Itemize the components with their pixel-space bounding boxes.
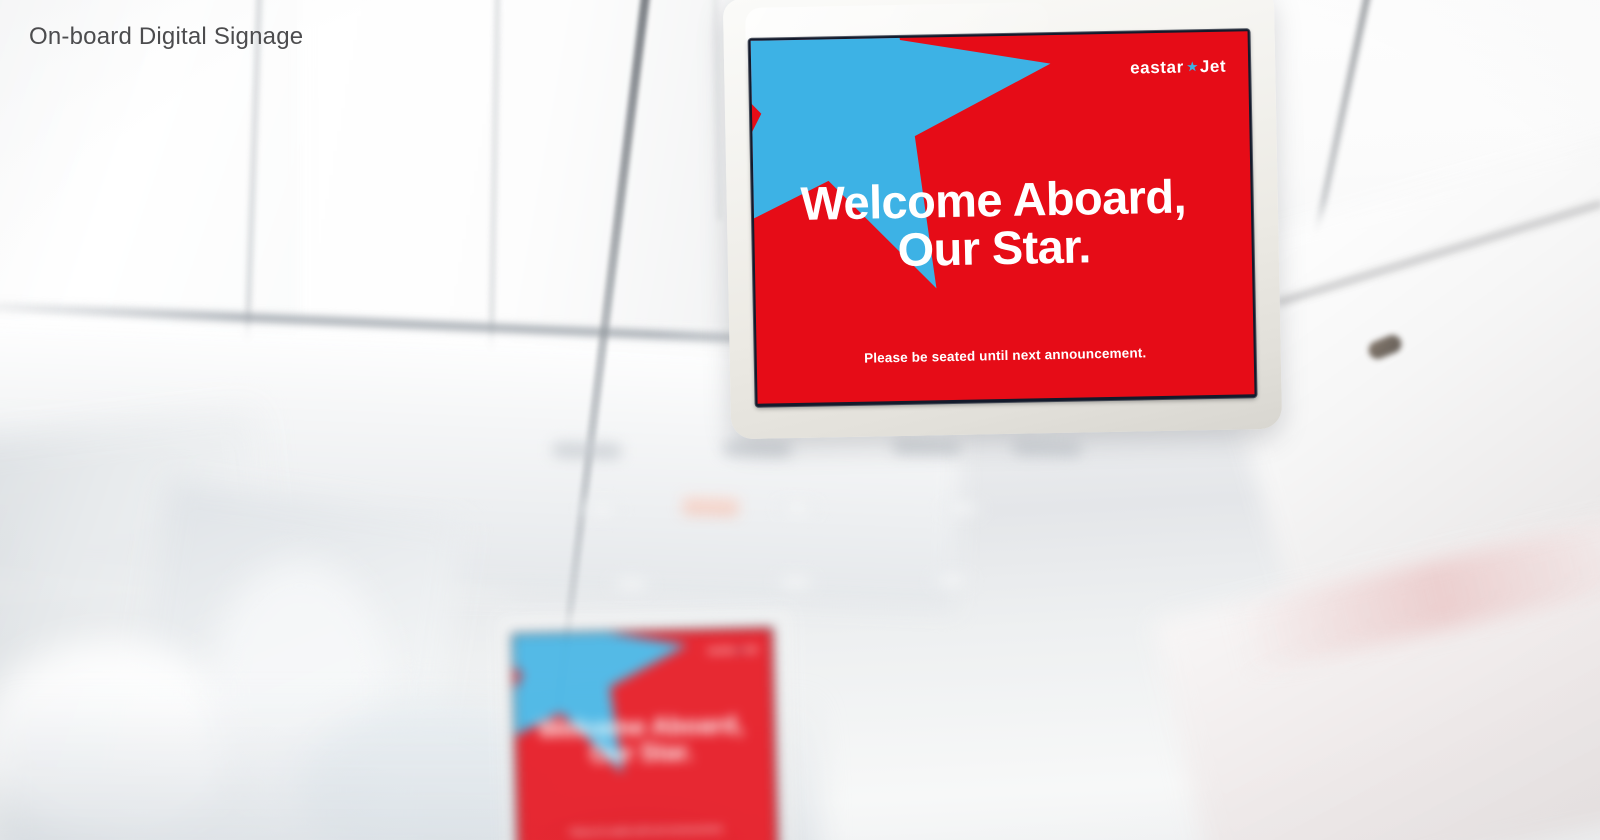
speaker-grille-icon xyxy=(774,575,816,590)
air-vent-icon xyxy=(1012,439,1082,457)
reading-light-icon xyxy=(580,502,622,517)
secondary-headline-line-2: Our Star. xyxy=(590,738,694,769)
signage-screen[interactable]: eastar Jet Welcome Aboard, Our Star. Ple… xyxy=(751,31,1255,403)
drop-down-monitor: eastar Jet Welcome Aboard, Our Star. Ple… xyxy=(723,0,1282,439)
star-icon xyxy=(737,647,743,653)
air-vent-icon xyxy=(892,438,962,456)
secondary-signage-screen: eastar Jet Welcome Aboard, Our Star. Ple… xyxy=(513,629,776,840)
page-title: On-board Digital Signage xyxy=(29,23,303,51)
logo-text-jet: Jet xyxy=(1200,58,1227,76)
signage-mockup-stage: On-board Digital Signage eastar Jet Welc… xyxy=(0,0,1600,840)
reading-light-icon xyxy=(940,501,982,516)
secondary-drop-down-monitor: eastar Jet Welcome Aboard, Our Star. Ple… xyxy=(497,608,799,840)
secondary-logo-text-eastar: eastar xyxy=(707,646,736,656)
star-icon xyxy=(1187,61,1198,72)
secondary-eastar-jet-logo: eastar Jet xyxy=(707,645,757,655)
secondary-signage-headline: Welcome Aboard, Our Star. xyxy=(515,711,766,770)
eastar-jet-logo: eastar Jet xyxy=(1130,58,1226,77)
monitor-bezel: eastar Jet Welcome Aboard, Our Star. Ple… xyxy=(749,29,1257,407)
logo-text-eastar: eastar xyxy=(1130,58,1184,76)
secondary-signage-subline: Please be seated until next announcement… xyxy=(518,823,776,838)
air-vent-icon xyxy=(552,441,622,459)
speaker-grille-icon xyxy=(931,573,973,588)
signage-subline: Please be seated until next announcement… xyxy=(757,343,1254,368)
passenger-service-unit xyxy=(537,423,1102,638)
secondary-logo-text-jet: Jet xyxy=(744,645,758,654)
fasten-seatbelt-sign xyxy=(682,496,738,515)
signage-headline: Welcome Aboard, Our Star. xyxy=(753,172,1234,278)
speaker-grille-icon xyxy=(610,577,652,592)
secondary-monitor-bezel: eastar Jet Welcome Aboard, Our Star. Ple… xyxy=(511,627,779,840)
air-vent-icon xyxy=(722,439,792,457)
reading-light-icon xyxy=(776,501,818,516)
